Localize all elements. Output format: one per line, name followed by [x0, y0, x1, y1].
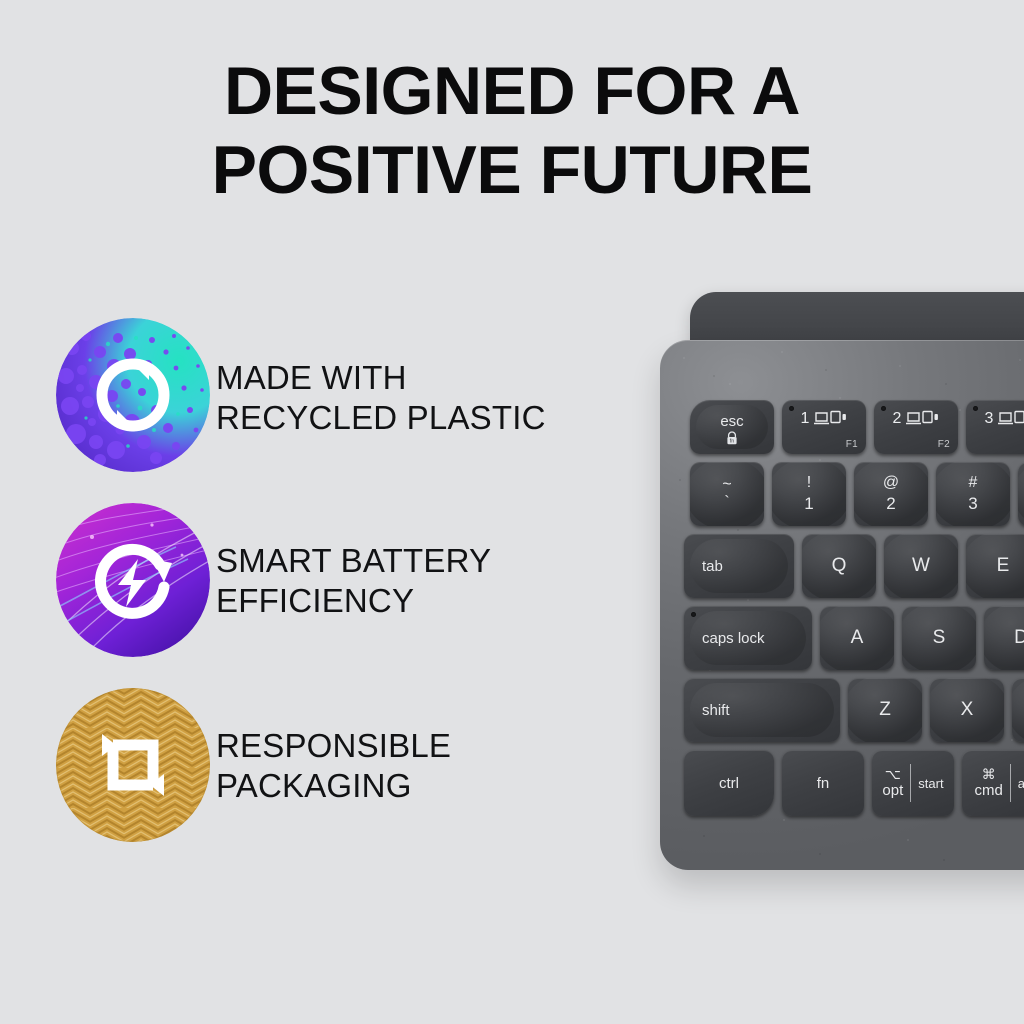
key-d-label: D	[1014, 627, 1024, 649]
key-e-label: E	[997, 555, 1010, 577]
key-3[interactable]: # 3	[936, 462, 1010, 526]
key-a[interactable]: A	[820, 606, 894, 670]
feature-label-recycled-plastic: MADE WITH RECYCLED PLASTIC	[216, 358, 616, 438]
feature-item-responsible-packaging: RESPONSIBLE PACKAGING	[56, 688, 616, 873]
key-e[interactable]: E	[966, 534, 1024, 598]
key-1-shift: !	[772, 474, 846, 492]
key-f2-fn-label: F2	[938, 439, 950, 450]
key-1-base: 1	[772, 494, 846, 514]
command-symbol: ⌘	[982, 767, 996, 782]
recycled-plastic-badge	[56, 318, 210, 472]
key-esc-label: esc	[720, 413, 743, 430]
caps-lock-led-indicator	[691, 612, 696, 617]
key-opt-start[interactable]: ⌥ opt start	[872, 750, 954, 816]
responsible-packaging-badge	[56, 688, 210, 842]
key-shift-label: shift	[684, 702, 730, 719]
key-tab[interactable]: tab	[684, 534, 794, 598]
key-f1-fn-label: F1	[846, 439, 858, 450]
key-cmd-alt[interactable]: ⌘ cmd alt	[962, 750, 1024, 816]
device-switch-icon-3: 3	[966, 410, 1024, 428]
battery-refresh-bolt-icon	[56, 503, 210, 657]
feature-item-recycled-plastic: MADE WITH RECYCLED PLASTIC	[56, 318, 616, 503]
repeat-square-arrows-icon	[56, 688, 210, 842]
f3-led-indicator	[973, 406, 978, 411]
svg-text:fn: fn	[730, 439, 735, 445]
page-title: DESIGNED FOR A POSITIVE FUTURE	[0, 52, 1024, 210]
key-z[interactable]: Z	[848, 678, 922, 742]
key-f1-number: 1	[801, 411, 810, 427]
key-1[interactable]: ! 1	[772, 462, 846, 526]
key-backtick-shift: ~	[690, 476, 764, 494]
key-f1[interactable]: 1 F1	[782, 400, 866, 454]
key-opt-label: opt	[882, 782, 903, 799]
device-switch-icon-1: 1	[782, 410, 866, 428]
keyboard-product-image: esc fn 1	[612, 292, 1024, 880]
key-x-label: X	[961, 699, 974, 721]
key-caps-lock-label: caps lock	[684, 630, 765, 647]
feature-label-smart-battery: SMART BATTERY EFFICIENCY	[216, 541, 616, 621]
fn-lock-icon: fn	[724, 430, 740, 449]
key-a-label: A	[851, 627, 864, 649]
key-w[interactable]: W	[884, 534, 958, 598]
key-2-base: 2	[854, 494, 928, 514]
key-cmd-alt-legends: ⌘ cmd alt	[962, 750, 1024, 816]
key-tab-label: tab	[684, 558, 723, 575]
key-x[interactable]: X	[930, 678, 1004, 742]
key-2-shift: @	[854, 474, 928, 492]
key-f3[interactable]: 3 F3	[966, 400, 1024, 454]
key-4[interactable]	[1018, 462, 1024, 526]
recycle-loop-icon	[56, 318, 210, 472]
key-f2[interactable]: 2 F2	[874, 400, 958, 454]
option-symbol: ⌥	[885, 767, 901, 782]
keyboard-key-area: esc fn 1	[660, 340, 1024, 870]
smart-battery-badge	[56, 503, 210, 657]
key-z-label: Z	[879, 699, 891, 721]
promo-canvas: DESIGNED FOR A POSITIVE FUTURE	[0, 0, 1024, 1024]
key-caps-lock[interactable]: caps lock	[684, 606, 812, 670]
f2-led-indicator	[881, 406, 886, 411]
key-shift[interactable]: shift	[684, 678, 840, 742]
feature-item-smart-battery: SMART BATTERY EFFICIENCY	[56, 503, 616, 688]
key-d[interactable]: D	[984, 606, 1024, 670]
legend-divider	[910, 764, 911, 802]
device-switch-icon-2: 2	[874, 410, 958, 428]
key-3-base: 3	[936, 494, 1010, 514]
key-start-label: start	[918, 776, 943, 791]
key-f2-number: 2	[893, 411, 902, 427]
key-q[interactable]: Q	[802, 534, 876, 598]
key-fn[interactable]: fn	[782, 750, 864, 816]
key-esc[interactable]: esc fn	[690, 400, 774, 454]
key-ctrl[interactable]: ctrl	[684, 750, 774, 816]
key-3-shift: #	[936, 474, 1010, 492]
key-s[interactable]: S	[902, 606, 976, 670]
key-cmd-label: cmd	[974, 782, 1002, 799]
key-backtick[interactable]: ~ `	[690, 462, 764, 526]
key-2[interactable]: @ 2	[854, 462, 928, 526]
feature-label-responsible-packaging: RESPONSIBLE PACKAGING	[216, 726, 616, 806]
f1-led-indicator	[789, 406, 794, 411]
key-f3-number: 3	[985, 411, 994, 427]
key-opt-start-legends: ⌥ opt start	[872, 750, 954, 816]
key-backtick-base: `	[690, 494, 764, 512]
key-fn-label: fn	[817, 775, 830, 792]
key-q-label: Q	[832, 555, 847, 577]
key-alt-label: alt	[1018, 776, 1024, 791]
key-s-label: S	[933, 627, 946, 649]
legend-divider	[1010, 764, 1011, 802]
key-w-label: W	[912, 555, 930, 577]
key-ctrl-label: ctrl	[719, 775, 739, 792]
feature-list: MADE WITH RECYCLED PLASTIC	[56, 318, 616, 873]
key-c[interactable]	[1012, 678, 1024, 742]
